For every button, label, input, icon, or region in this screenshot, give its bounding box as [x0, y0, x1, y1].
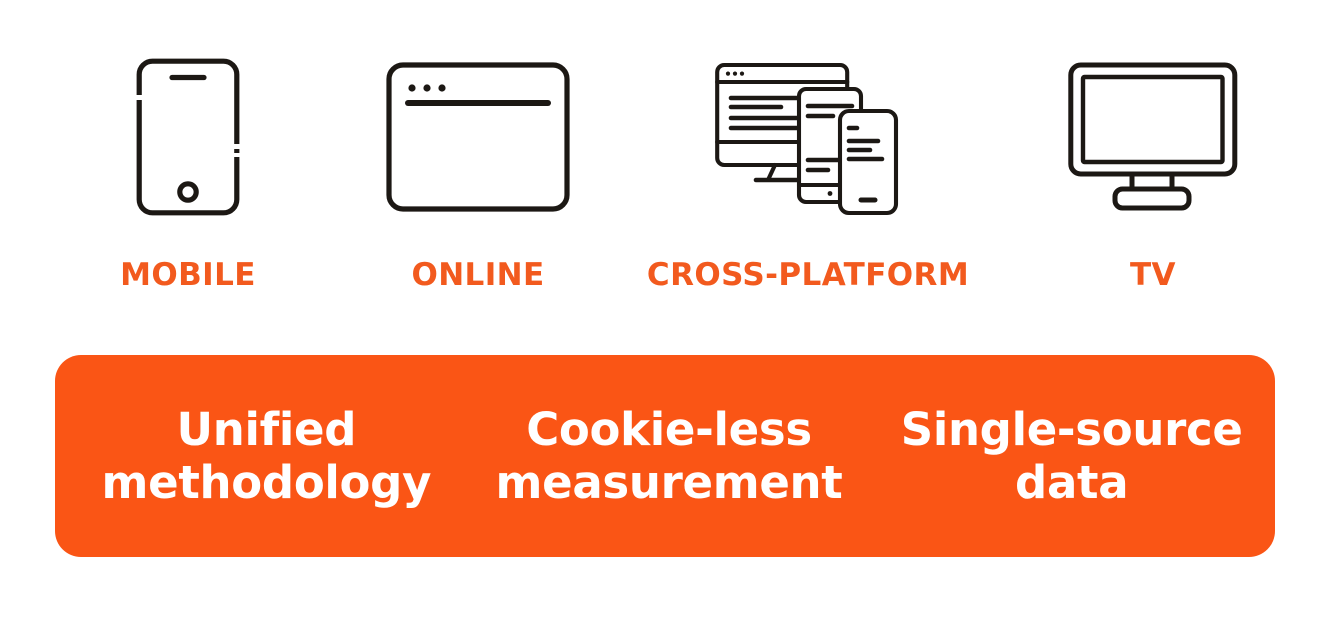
platform-label-tv: TV	[1130, 260, 1176, 291]
platform-label-online: ONLINE	[411, 260, 544, 291]
banner-item-unified-methodology: Unified methodology	[55, 403, 468, 509]
mobile-phone-icon	[136, 52, 240, 222]
tv-monitor-icon	[1068, 52, 1238, 222]
banner-text-unified-methodology: Unified methodology	[102, 403, 432, 509]
feature-overview-graphic: MOBILE ONLINE	[0, 0, 1328, 630]
banner-item-cookie-less-measurement: Cookie-less measurement	[468, 403, 871, 509]
platform-label-cross-platform: CROSS-PLATFORM	[647, 260, 969, 291]
browser-window-icon	[386, 52, 570, 222]
highlights-banner: Unified methodology Cookie-less measurem…	[55, 355, 1275, 557]
platform-item-tv: TV	[1003, 52, 1303, 291]
multi-device-icon	[715, 52, 901, 222]
banner-item-single-source-data: Single-source data	[870, 403, 1275, 509]
platform-item-cross-platform: CROSS-PLATFORM	[613, 52, 1003, 291]
platform-label-mobile: MOBILE	[120, 260, 256, 291]
banner-text-single-source-data: Single-source data	[901, 403, 1243, 509]
platform-item-online: ONLINE	[343, 52, 613, 291]
platform-item-mobile: MOBILE	[33, 52, 343, 291]
platform-row: MOBILE ONLINE	[0, 52, 1328, 302]
banner-text-cookie-less-measurement: Cookie-less measurement	[496, 403, 843, 509]
